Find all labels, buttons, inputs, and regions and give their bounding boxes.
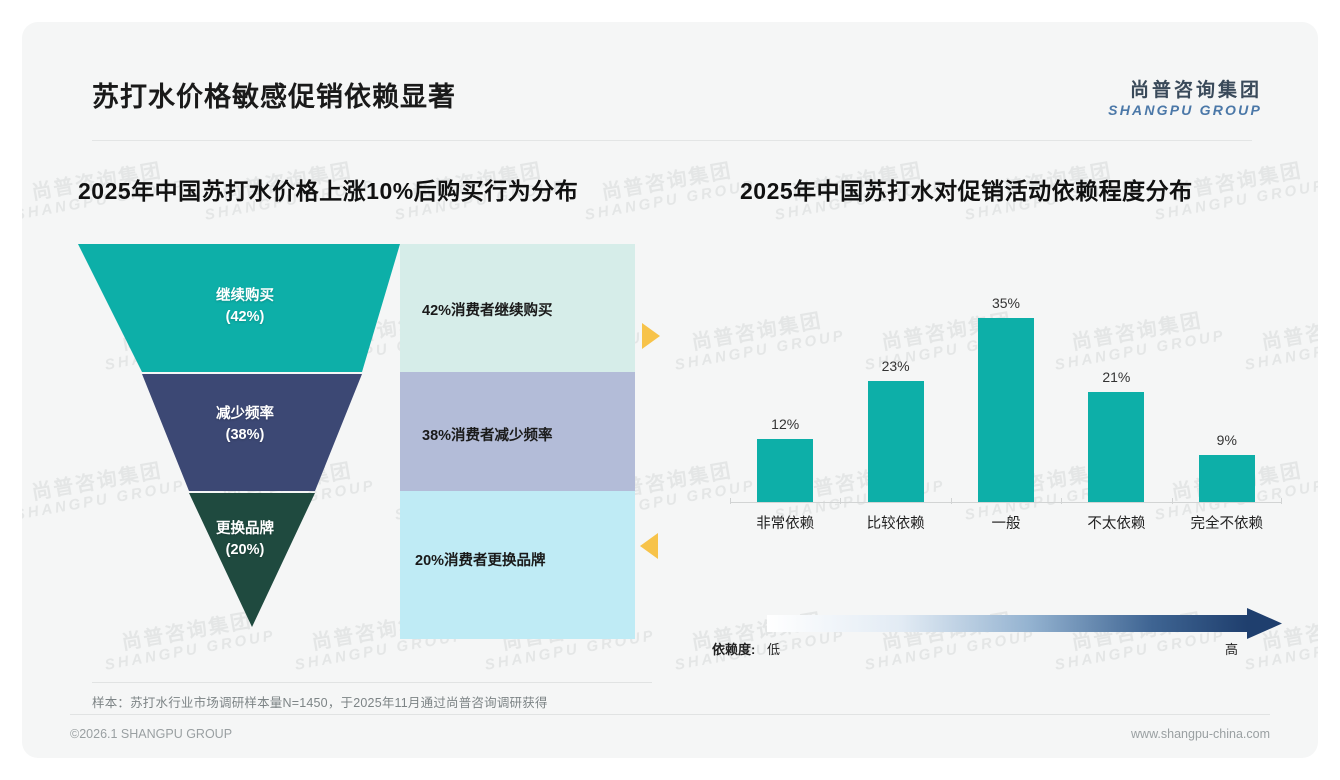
gradient-arrow-icon <box>712 607 1292 641</box>
bar[interactable] <box>868 381 924 502</box>
header-divider <box>92 140 1252 141</box>
bar[interactable] <box>757 439 813 502</box>
left-panel-title: 2025年中国苏打水价格上涨10%后购买行为分布 <box>70 172 670 206</box>
axis-ticks <box>730 498 1282 504</box>
brand-logo: 尚普咨询集团 SHANGPU GROUP <box>1108 80 1262 119</box>
bar-value-label: 35% <box>992 295 1020 311</box>
bar-plot-area: 12%23%35%21%9% <box>730 250 1282 502</box>
funnel-side-label: 20%消费者更换品牌 <box>415 549 546 570</box>
bar[interactable] <box>1199 455 1255 502</box>
footnote: 样本：苏打水行业市场调研样本量N=1450，于2025年11月通过尚普咨询调研获… <box>92 692 792 711</box>
bar-value-label: 12% <box>771 416 799 432</box>
x-axis-label: 完全不依赖 <box>1172 512 1282 533</box>
x-axis-line <box>730 502 1282 503</box>
funnel-chart: 继续购买(42%) 减少频率(38%) 更换品牌(20%) 42%消费者继续购买… <box>70 244 670 639</box>
bar-column[interactable]: 9% <box>1172 432 1282 502</box>
play-triangle-right-icon <box>642 323 660 349</box>
footer-copyright: ©2026.1 SHANGPU GROUP <box>70 727 232 741</box>
bar[interactable] <box>1088 392 1144 502</box>
x-axis-label: 不太依赖 <box>1061 512 1171 533</box>
funnel-stage-label: 继续购买(42%) <box>180 286 310 328</box>
axis-tick <box>1281 498 1282 504</box>
funnel-svg <box>70 244 670 639</box>
bar-chart: 12%23%35%21%9% 非常依赖比较依赖一般不太依赖完全不依赖 <box>712 250 1292 550</box>
axis-tick <box>951 498 952 504</box>
axis-tick <box>1172 498 1173 504</box>
left-panel: 2025年中国苏打水价格上涨10%后购买行为分布 继续购买(42%) 减少频率(… <box>70 172 670 692</box>
footer-website[interactable]: www.shangpu-china.com <box>1131 727 1270 741</box>
slide-header: 苏打水价格敏感促销依赖显著 尚普咨询集团 SHANGPU GROUP <box>22 22 1318 120</box>
funnel-stage-label: 更换品牌(20%) <box>180 519 310 561</box>
right-panel-title: 2025年中国苏打水对促销活动依赖程度分布 <box>712 172 1292 206</box>
x-axis-label: 非常依赖 <box>730 512 840 533</box>
axis-tick <box>1061 498 1062 504</box>
funnel-side-label: 42%消费者继续购买 <box>422 299 553 320</box>
bar-column[interactable]: 23% <box>840 358 950 502</box>
logo-chinese-name: 尚普咨询集团 <box>1108 80 1262 102</box>
gradient-low-label: 低 <box>767 639 780 658</box>
slide-canvas: 尚普咨询集团SHANGPU GROUP尚普咨询集团SHANGPU GROUP尚普… <box>22 22 1318 758</box>
x-axis-labels: 非常依赖比较依赖一般不太依赖完全不依赖 <box>730 512 1282 538</box>
axis-tick <box>840 498 841 504</box>
bar-column[interactable]: 12% <box>730 416 840 502</box>
page-title: 苏打水价格敏感促销依赖显著 <box>92 84 456 111</box>
logo-english-name: SHANGPU GROUP <box>1108 102 1262 119</box>
funnel-stage-label: 减少频率(38%) <box>180 404 310 446</box>
bar-column[interactable]: 21% <box>1061 369 1171 502</box>
footnote-divider <box>92 682 652 683</box>
bar-value-label: 23% <box>882 358 910 374</box>
gradient-high-label: 高 <box>1225 639 1238 658</box>
bar-value-label: 9% <box>1217 432 1237 448</box>
dependency-gradient-legend: 依赖度: 低 高 <box>712 607 1292 677</box>
gradient-legend-label: 依赖度: <box>712 639 755 658</box>
bar[interactable] <box>978 318 1034 502</box>
bar-column[interactable]: 35% <box>951 295 1061 502</box>
x-axis-label: 一般 <box>951 512 1061 533</box>
axis-tick <box>730 498 731 504</box>
x-axis-label: 比较依赖 <box>840 512 950 533</box>
funnel-side-label: 38%消费者减少频率 <box>422 424 553 445</box>
bar-value-label: 21% <box>1102 369 1130 385</box>
footer-divider <box>70 714 1270 715</box>
play-triangle-left-icon <box>640 533 658 559</box>
